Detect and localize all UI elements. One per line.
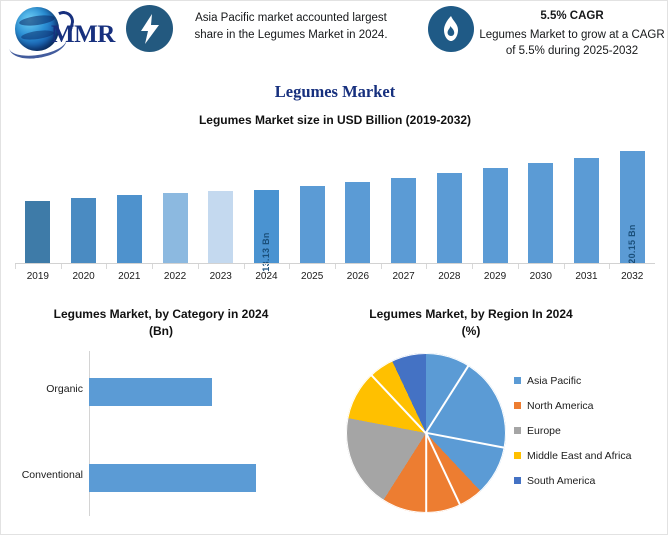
column-chart-x-axis-labels: 2019202020212022202320242025202620272028… [15,271,655,282]
column-bar-2023 [208,191,233,263]
x-tick [335,264,381,270]
x-tick [472,264,518,270]
logo-text: MMR [51,21,115,49]
region-pie-chart: Legumes Market, by Region In 2024 (%) As… [321,306,668,536]
legend-label: Asia Pacific [527,375,581,387]
x-tick [61,264,107,270]
lightning-bolt-icon [139,14,161,44]
legend-label: Middle East and Africa [527,450,631,462]
header-banner: MMR Asia Pacific market accounted larges… [1,1,668,71]
x-tick [564,264,610,270]
x-tick [106,264,152,270]
x-axis-label-2029: 2029 [472,271,518,282]
pie-chart-title-main: Legumes Market, by Region In 2024 [369,307,572,321]
category-label-organic: Organic [1,383,83,395]
pie-slice-divider [371,374,427,433]
pie-legend-item: North America [514,393,668,418]
column-bar-2025 [300,186,325,263]
column-bar-2021 [117,195,142,263]
pie-slice-divider [426,432,505,449]
x-tick [198,264,244,270]
pie-slice-divider [425,365,469,433]
callout-right-text: Legumes Market to grow at a CAGR of 5.5%… [479,29,664,58]
x-tick [381,264,427,270]
infographic-canvas: MMR Asia Pacific market accounted larges… [1,1,668,536]
column-bar-cell: 20.15 Bn [609,141,655,263]
column-bar-cell [152,141,198,263]
column-bar-2030 [528,163,553,263]
column-bar-cell [381,141,427,263]
x-axis-label-2019: 2019 [15,271,61,282]
category-bar-chart: Legumes Market, by Category in 2024 (Bn)… [1,306,321,536]
column-bar-value-label-2032: 20.15 Bn [627,224,637,263]
column-chart-ticks [15,264,655,270]
column-chart-title: Legumes Market size in USD Billion (2019… [1,113,668,127]
column-bar-cell [198,141,244,263]
category-label-conventional: Conventional [1,469,83,481]
legend-label: North America [527,400,594,412]
column-bar-cell [335,141,381,263]
column-bar-cell [564,141,610,263]
category-chart-subtitle: (Bn) [149,324,173,338]
column-bar-2019 [25,201,50,263]
pie-legend-item: Europe [514,418,668,443]
flame-icon [441,16,461,42]
legend-label: South America [527,475,595,487]
lightning-bolt-badge [126,5,173,52]
x-tick [152,264,198,270]
column-bar-cell [426,141,472,263]
x-axis-label-2020: 2020 [61,271,107,282]
category-bar-organic [89,378,212,406]
x-axis-label-2031: 2031 [564,271,610,282]
pie-chart-title: Legumes Market, by Region In 2024 (%) [321,306,621,340]
pie-legend-item: Middle East and Africa [514,443,668,468]
callout-right-block: 5.5% CAGR Legumes Market to grow at a CA… [476,8,668,60]
x-tick [15,264,61,270]
pie-slice-divider [425,433,427,513]
legend-swatch-icon [514,477,521,484]
page-title: Legumes Market [1,82,668,102]
x-axis-label-2027: 2027 [381,271,427,282]
x-tick [289,264,335,270]
x-axis-label-2023: 2023 [198,271,244,282]
column-bar-cell [61,141,107,263]
x-axis-label-2024: 2024 [244,271,290,282]
x-axis-label-2025: 2025 [289,271,335,282]
category-chart-title-main: Legumes Market, by Category in 2024 [54,307,269,321]
market-size-column-chart: Legumes Market size in USD Billion (2019… [1,113,668,291]
pie-legend-item: Asia Pacific [514,368,668,393]
column-bar-cell [472,141,518,263]
column-bar-2022 [163,193,188,263]
column-chart-bars: 13.13 Bn20.15 Bn [15,141,655,263]
column-bar-2031 [574,158,599,263]
x-axis-label-2030: 2030 [518,271,564,282]
legend-swatch-icon [514,427,521,434]
callout-left-text: Asia Pacific market accounted largest sh… [186,10,396,43]
column-bar-cell [518,141,564,263]
x-axis-label-2032: 2032 [609,271,655,282]
column-bar-2032: 20.15 Bn [620,151,645,263]
pie-graphic [346,353,506,513]
legend-swatch-icon [514,452,521,459]
legend-swatch-icon [514,402,521,409]
pie-legend: Asia PacificNorth AmericaEuropeMiddle Ea… [514,368,668,493]
pie-slice-divider [425,433,461,506]
x-axis-label-2021: 2021 [106,271,152,282]
mmr-logo: MMR [7,5,125,57]
legend-swatch-icon [514,377,521,384]
flame-badge [428,6,474,52]
column-bar-cell: 13.13 Bn [244,141,290,263]
column-bar-cell [15,141,61,263]
x-axis-label-2022: 2022 [152,271,198,282]
column-bar-cell [289,141,335,263]
x-tick [518,264,564,270]
category-chart-title: Legumes Market, by Category in 2024 (Bn) [1,306,321,340]
x-tick [244,264,290,270]
cagr-heading: 5.5% CAGR [476,8,668,25]
legend-label: Europe [527,425,561,437]
column-bar-cell [106,141,152,263]
column-bar-2028 [437,173,462,263]
column-bar-2029 [483,168,508,263]
category-bar-conventional [89,464,256,492]
x-axis-label-2026: 2026 [335,271,381,282]
column-bar-2024: 13.13 Bn [254,190,279,263]
column-bar-2027 [391,178,416,263]
pie-chart-subtitle: (%) [462,324,481,338]
x-tick [609,264,655,270]
pie-legend-item: South America [514,468,668,493]
column-bar-2020 [71,198,96,263]
x-axis-label-2028: 2028 [426,271,472,282]
column-bar-2026 [345,182,370,263]
x-tick [426,264,472,270]
